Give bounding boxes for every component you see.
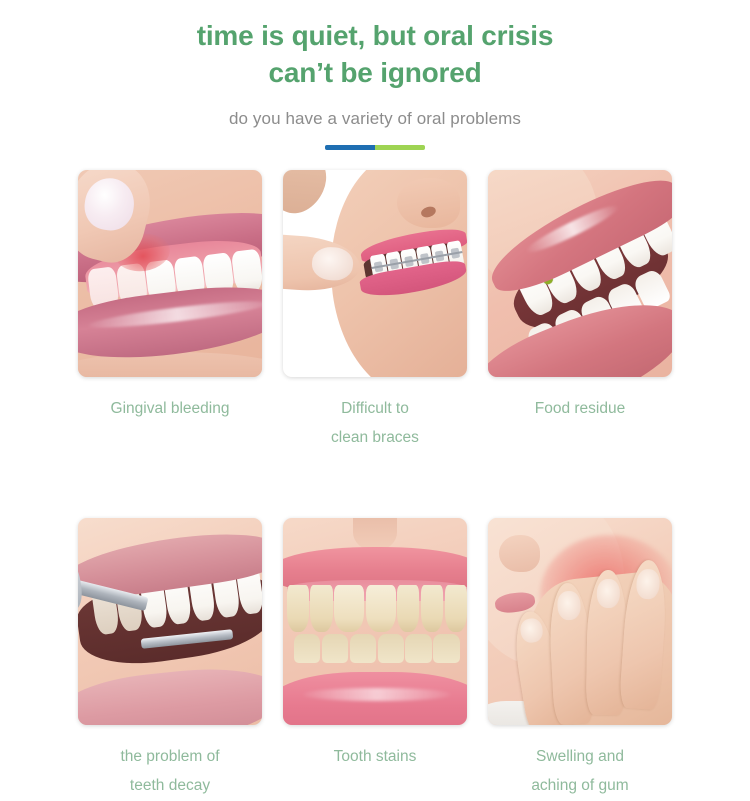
problem-card-swelling-aching-gum[interactable]: Swelling and aching of gum bbox=[488, 518, 672, 800]
card-image-frame[interactable] bbox=[488, 518, 672, 725]
title-line-1: time is quiet, but oral crisis bbox=[0, 18, 750, 55]
section-divider bbox=[325, 145, 425, 150]
divider-segment-blue bbox=[325, 145, 375, 150]
page-header: time is quiet, but oral crisis can’t be … bbox=[0, 0, 750, 150]
divider-segment-green bbox=[375, 145, 425, 150]
card-caption: Food residue bbox=[535, 395, 625, 424]
aching-gum-photo bbox=[488, 518, 672, 725]
card-image-frame[interactable] bbox=[78, 170, 262, 377]
card-caption: Tooth stains bbox=[334, 743, 417, 772]
card-image-frame[interactable] bbox=[488, 170, 672, 377]
problem-card-tooth-stains[interactable]: Tooth stains bbox=[283, 518, 467, 800]
problem-card-grid: Gingival bleeding Difficult to clean bra… bbox=[0, 170, 750, 801]
gingival-bleeding-photo bbox=[78, 170, 262, 377]
tooth-stains-photo bbox=[283, 518, 467, 725]
page-title: time is quiet, but oral crisis can’t be … bbox=[0, 18, 750, 92]
card-image-frame[interactable] bbox=[78, 518, 262, 725]
card-image-frame[interactable] bbox=[283, 170, 467, 377]
problem-card-gingival-bleeding[interactable]: Gingival bleeding bbox=[78, 170, 262, 452]
card-caption: Swelling and aching of gum bbox=[531, 743, 628, 800]
title-line-2: can’t be ignored bbox=[0, 55, 750, 92]
card-caption: the problem of teeth decay bbox=[120, 743, 219, 800]
teeth-decay-photo bbox=[78, 518, 262, 725]
card-caption: Difficult to clean braces bbox=[331, 395, 419, 452]
braces-photo bbox=[283, 170, 467, 377]
card-image-frame[interactable] bbox=[283, 518, 467, 725]
problem-card-food-residue[interactable]: Food residue bbox=[488, 170, 672, 452]
problem-card-difficult-clean-braces[interactable]: Difficult to clean braces bbox=[283, 170, 467, 452]
problem-card-teeth-decay[interactable]: the problem of teeth decay bbox=[78, 518, 262, 800]
food-residue-photo bbox=[488, 170, 672, 377]
page-subtitle: do you have a variety of oral problems bbox=[0, 109, 750, 129]
card-caption: Gingival bleeding bbox=[111, 395, 230, 424]
